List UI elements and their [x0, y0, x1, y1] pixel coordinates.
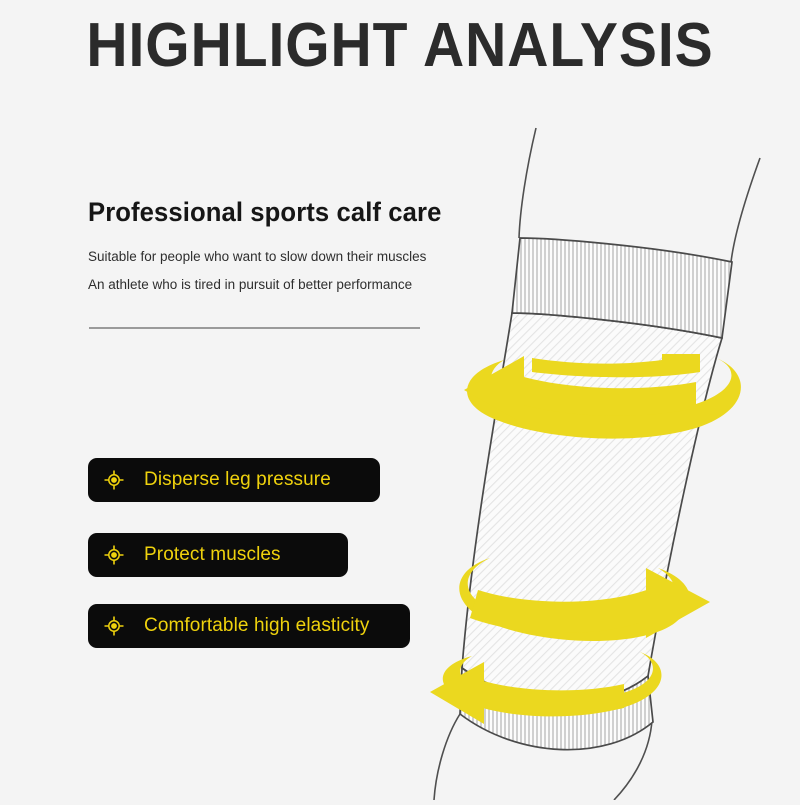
crosshair-target-icon [102, 468, 126, 492]
poster-root: HIGHLIGHT ANALYSIS Professional sports c… [0, 0, 800, 800]
feature-badge[interactable]: Protect muscles [88, 533, 348, 577]
feature-badge-label: Disperse leg pressure [144, 469, 331, 491]
feature-badge[interactable]: Disperse leg pressure [88, 458, 380, 502]
calf-compression-sleeve-illustration [400, 110, 800, 800]
crosshair-target-icon [102, 614, 126, 638]
divider [89, 327, 420, 329]
headline: Professional sports calf care [88, 196, 441, 228]
crosshair-target-icon [102, 543, 126, 567]
intro-line-2: An athlete who is tired in pursuit of be… [88, 276, 412, 294]
intro-line-1: Suitable for people who want to slow dow… [88, 248, 426, 266]
feature-badge[interactable]: Comfortable high elasticity [88, 604, 410, 648]
feature-badge-label: Comfortable high elasticity [144, 615, 370, 637]
page-title: HIGHLIGHT ANALYSIS [32, 13, 768, 79]
feature-badge-label: Protect muscles [144, 544, 281, 566]
